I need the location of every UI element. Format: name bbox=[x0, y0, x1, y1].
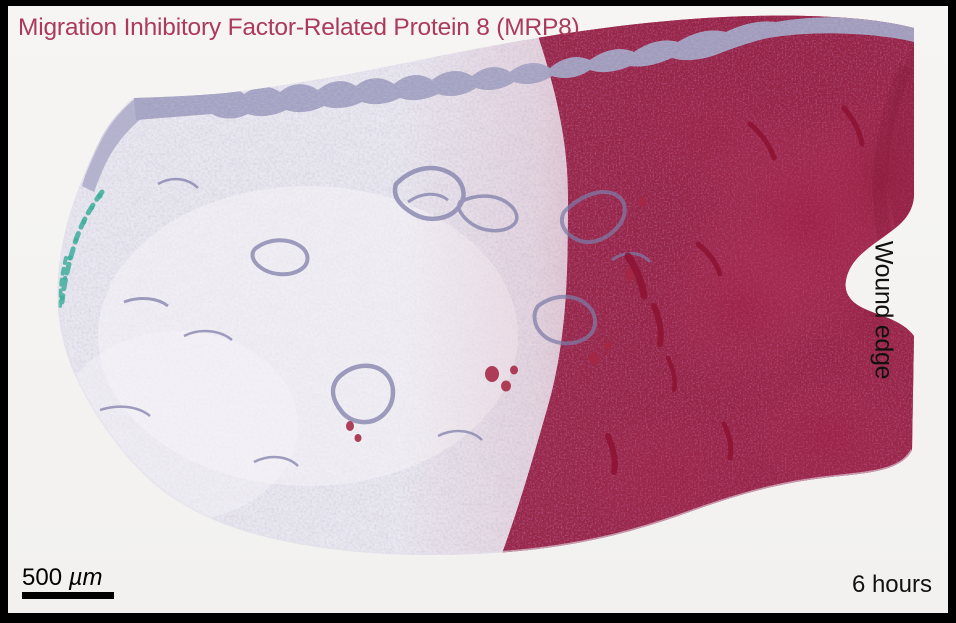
figure-title: Migration Inhibitory Factor-Related Prot… bbox=[18, 14, 580, 42]
figure-canvas: Migration Inhibitory Factor-Related Prot… bbox=[8, 6, 948, 613]
histology-figure: Migration Inhibitory Factor-Related Prot… bbox=[0, 0, 956, 623]
scale-bar-label: 500 µm bbox=[22, 565, 114, 590]
tissue-image bbox=[8, 6, 948, 613]
wound-edge-label: Wound edge bbox=[868, 240, 897, 378]
scale-bar-value: 500 bbox=[22, 564, 69, 591]
timepoint-label: 6 hours bbox=[852, 571, 932, 599]
scale-bar-line bbox=[22, 592, 114, 599]
scale-bar: 500 µm bbox=[22, 565, 114, 599]
scale-bar-unit: µm bbox=[69, 564, 103, 591]
